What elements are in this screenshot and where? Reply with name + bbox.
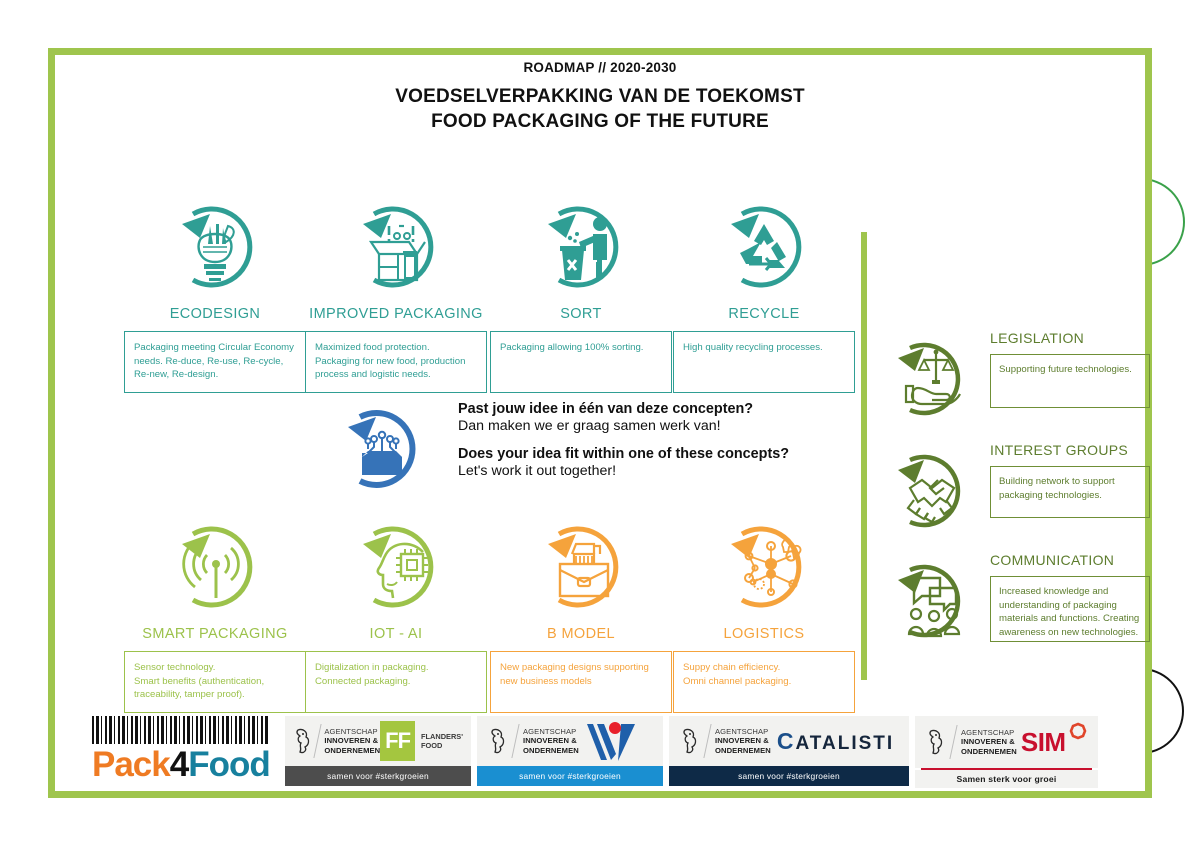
concept-ecodesign[interactable]: ECODESIGN Packaging meeting Circular Eco…	[124, 192, 306, 393]
callout-english-question: Does your idea fit within one of these c…	[458, 446, 858, 462]
catalisti-wordmark: CATALISTI	[777, 728, 894, 755]
concept-description: Digitalization in packaging. Connected p…	[305, 651, 487, 713]
speech-bubbles-people-icon	[880, 552, 980, 652]
concept-label: B MODEL	[490, 626, 672, 642]
lightbulb-design-icon	[160, 192, 270, 302]
catalisti-rest: ATALISTI	[795, 733, 894, 754]
side-description: Building network to support packaging te…	[990, 466, 1150, 518]
logo-separator	[949, 725, 957, 759]
logo-flanders-food[interactable]: AGENTSCHAP INNOVEREN & ONDERNEMEN FF FLA…	[285, 716, 471, 786]
head-chip-icon	[341, 512, 451, 622]
concept-recycle[interactable]: RECYCLE High quality recycling processes…	[673, 192, 855, 393]
logo-separator	[703, 724, 711, 758]
agency-line-2: INNOVEREN &	[324, 736, 380, 745]
person-trash-bin-icon	[526, 192, 636, 302]
flanders-lion-icon	[293, 726, 313, 756]
logo-separator	[313, 724, 321, 758]
logo-head: AGENTSCHAP INNOVEREN & ONDERNEMEN CATALI…	[669, 716, 909, 766]
flanders-lion-icon	[485, 726, 511, 756]
concept-iot-ai[interactable]: IOT - AI Digitalization in packaging. Co…	[305, 512, 487, 713]
pack4food-part1: Pack	[92, 745, 170, 784]
flanders-food-mark: FF	[380, 721, 415, 761]
concept-description: Suppy chain efficiency. Omni channel pac…	[673, 651, 855, 713]
side-body: INTEREST GROUPS Building network to supp…	[990, 442, 1150, 518]
roadmap-kicker: ROADMAP // 2020-2030	[0, 60, 1200, 75]
open-box-icon	[341, 192, 451, 302]
flanders-food-name: FLANDERS' FOOD	[421, 732, 463, 751]
concept-label: IMPROVED PACKAGING	[305, 306, 487, 322]
concept-description: New packaging designs supporting new bus…	[490, 651, 672, 713]
title-english: FOOD PACKAGING OF THE FUTURE	[0, 111, 1200, 133]
agency-name: AGENTSCHAP INNOVEREN & ONDERNEMEN	[961, 728, 1017, 756]
agency-line-2: INNOVEREN &	[961, 737, 1017, 746]
concept-label: LOGISTICS	[673, 626, 855, 642]
side-description: Supporting future technologies.	[990, 354, 1150, 408]
logo-head: AGENTSCHAP INNOVEREN & ONDERNEMEN SIM	[915, 716, 1098, 768]
agency-line-3: ONDERNEMEN	[715, 746, 771, 755]
poster-header: ROADMAP // 2020-2030 VOEDSELVERPAKKING V…	[0, 60, 1200, 133]
callout-dutch-question: Past jouw idee in één van deze concepten…	[458, 401, 858, 417]
logo-catalisti[interactable]: AGENTSCHAP INNOVEREN & ONDERNEMEN CATALI…	[669, 716, 909, 786]
logo-head: AGENTSCHAP INNOVEREN & ONDERNEMEN	[477, 716, 663, 766]
callout-english-answer: Let's work it out together!	[458, 463, 858, 479]
vlaio-v-icon	[585, 720, 639, 762]
smart-box-circuit-icon	[330, 397, 434, 501]
logo-strip: Pack4Food AGENTSCHAP INNOVEREN &	[88, 716, 1098, 788]
concept-description: Sensor technology. Smart benefits (authe…	[124, 651, 306, 713]
agency-line-1: AGENTSCHAP	[523, 727, 579, 736]
concept-label: ECODESIGN	[124, 306, 306, 322]
logo-pack4food[interactable]: Pack4Food	[88, 716, 278, 786]
agency-line-1: AGENTSCHAP	[324, 727, 380, 736]
agency-name: AGENTSCHAP INNOVEREN & ONDERNEMEN	[715, 727, 771, 755]
flanders-lion-icon	[923, 727, 949, 757]
catalisti-initial: C	[777, 728, 796, 754]
concept-label: IOT - AI	[305, 626, 487, 642]
barcode-icon	[92, 716, 268, 744]
logo-tagline: samen voor #sterkgroeien	[477, 766, 663, 786]
agency-name: AGENTSCHAP INNOVEREN & ONDERNEMEN	[523, 727, 579, 755]
callout-dutch-answer: Dan maken we er graag samen werk van!	[458, 418, 858, 434]
agency-line-2: INNOVEREN &	[523, 736, 579, 745]
concept-logistics[interactable]: LOGISTICS Suppy chain efficiency. Omni c…	[673, 512, 855, 713]
poster-canvas: ROADMAP // 2020-2030 VOEDSELVERPAKKING V…	[0, 0, 1200, 848]
sim-gear-icon	[1067, 722, 1089, 749]
logo-tagline: samen voor #sterkgroeien	[285, 766, 471, 786]
agency-name: AGENTSCHAP INNOVEREN & ONDERNEMEN	[324, 727, 380, 755]
logo-separator	[511, 724, 519, 758]
pack4food-wordmark: Pack4Food	[92, 745, 278, 785]
concept-b-model[interactable]: B MODEL New packaging designs supporting…	[490, 512, 672, 713]
agency-line-1: AGENTSCHAP	[715, 727, 771, 736]
logo-vlaio[interactable]: AGENTSCHAP INNOVEREN & ONDERNEMEN samen	[477, 716, 663, 786]
briefcase-factory-icon	[526, 512, 636, 622]
concept-sort[interactable]: SORT Packaging allowing 100% sorting.	[490, 192, 672, 393]
logo-tagline: samen voor #sterkgroeien	[669, 766, 909, 786]
concept-description: Packaging meeting Circular Economy needs…	[124, 331, 306, 393]
side-body: COMMUNICATION Increased knowledge and un…	[990, 552, 1150, 642]
pack4food-part2: 4	[170, 745, 188, 784]
flanders-food-line-1: FLANDERS'	[421, 732, 463, 741]
concept-smart-packaging[interactable]: SMART PACKAGING Sensor technology. Smart…	[124, 512, 306, 713]
network-nodes-icon	[709, 512, 819, 622]
pack4food-part3: Food	[188, 745, 270, 784]
recycle-arrows-icon	[709, 192, 819, 302]
title-dutch: VOEDSELVERPAKKING VAN DE TOEKOMST	[0, 86, 1200, 108]
agency-line-1: AGENTSCHAP	[961, 728, 1017, 737]
agency-line-3: ONDERNEMEN	[523, 746, 579, 755]
concept-label: RECYCLE	[673, 306, 855, 322]
side-body: LEGISLATION Supporting future technologi…	[990, 330, 1150, 408]
logo-tagline: Samen sterk voor groei	[915, 770, 1098, 788]
section-divider	[861, 232, 867, 680]
concept-description: Packaging allowing 100% sorting.	[490, 331, 672, 393]
logo-head: AGENTSCHAP INNOVEREN & ONDERNEMEN FF FLA…	[285, 716, 471, 766]
concept-label: SORT	[490, 306, 672, 322]
flanders-lion-icon	[677, 726, 703, 756]
concept-label: SMART PACKAGING	[124, 626, 306, 642]
sim-wordmark: SIM	[1021, 727, 1066, 758]
concept-description: Maximized food protection. Packaging for…	[305, 331, 487, 393]
side-label: COMMUNICATION	[990, 552, 1150, 568]
callout-text-block: Past jouw idee in één van deze concepten…	[458, 401, 858, 479]
signal-waves-icon	[160, 512, 270, 622]
side-label: INTEREST GROUPS	[990, 442, 1150, 458]
side-description: Increased knowledge and understanding of…	[990, 576, 1150, 642]
agency-line-3: ONDERNEMEN	[961, 747, 1017, 756]
concept-improved-packaging[interactable]: IMPROVED PACKAGING Maximized food protec…	[305, 192, 487, 393]
side-label: LEGISLATION	[990, 330, 1150, 346]
agency-line-2: INNOVEREN &	[715, 736, 771, 745]
flanders-food-line-2: FOOD	[421, 741, 463, 750]
hand-scales-icon	[880, 330, 980, 430]
handshake-icon	[880, 442, 980, 542]
agency-line-3: ONDERNEMEN	[324, 746, 380, 755]
concept-description: High quality recycling processes.	[673, 331, 855, 393]
logo-sim[interactable]: AGENTSCHAP INNOVEREN & ONDERNEMEN SIM Sa…	[915, 716, 1098, 786]
